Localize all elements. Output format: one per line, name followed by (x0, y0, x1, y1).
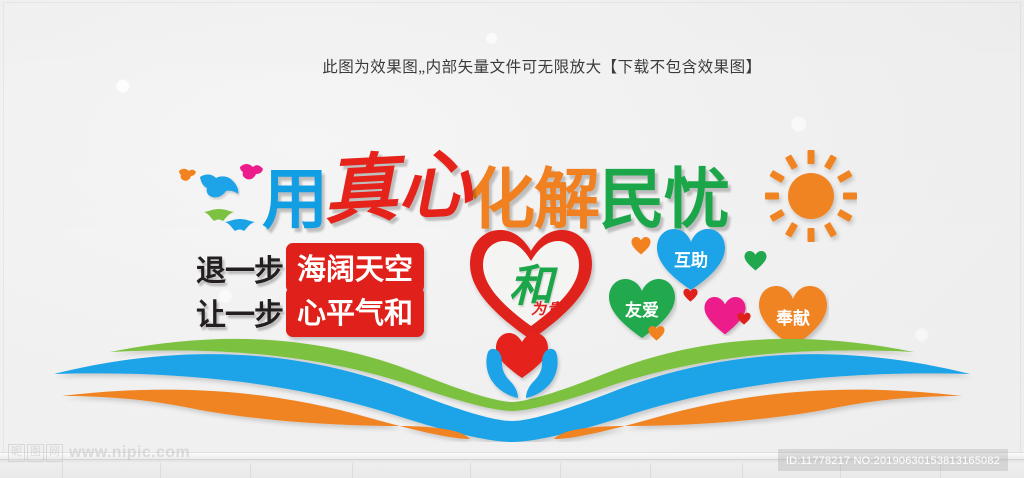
slogan-box: 海阔天空 (286, 243, 424, 293)
slogan-row: 退一步 海阔天空 (196, 243, 424, 293)
slogan-box-label: 海阔天空 (297, 252, 413, 286)
id-bar-text: ID:11778217 NO:20190630153813165082 (786, 455, 1000, 467)
value-heart-label: 友爱 (607, 296, 677, 321)
headline-segment-1: 用 (262, 167, 327, 233)
watermark-logo-char: 昵 (8, 444, 25, 462)
mini-heart-orange (631, 236, 651, 255)
id-bar: ID:11778217 NO:20190630153813165082 (778, 449, 1008, 471)
slogan-prefix: 退一步 (196, 246, 283, 290)
watermark-logo-char: 网 (46, 444, 63, 462)
watermark-logo: 昵 图 网 (8, 444, 63, 462)
mini-heart-green (744, 250, 767, 271)
value-heart-label: 互助 (655, 246, 727, 271)
hands-heart-core (496, 333, 548, 378)
mini-heart-red-a (683, 288, 698, 302)
hands-holding-heart (474, 328, 570, 400)
watermark-logo-char: 图 (27, 444, 44, 462)
watermark-url: www.nipic.com (69, 444, 190, 462)
center-heart-sub-text: 为贵 (512, 298, 582, 319)
bird-pink-icon (239, 162, 264, 182)
leaf-blue-icon (224, 218, 256, 233)
headline-segment-4: 民忧 (599, 167, 729, 233)
watermark: 昵 图 网 www.nipic.com (8, 444, 190, 462)
sun-icon (765, 150, 857, 242)
headline-segment-2: 真心 (320, 124, 473, 239)
bird-orange-icon (178, 167, 197, 183)
headline: 用 真心 化解 民忧 (262, 126, 729, 233)
bird-blue-icon (198, 170, 240, 200)
poster-canvas: 此图为效果图„内部矢量文件可无限放大【下载不包含效果图】 用 真心 化解 民忧 … (0, 0, 1024, 478)
effect-image-notice: 此图为效果图„内部矢量文件可无限放大【下载不包含效果图】 (0, 55, 1024, 77)
